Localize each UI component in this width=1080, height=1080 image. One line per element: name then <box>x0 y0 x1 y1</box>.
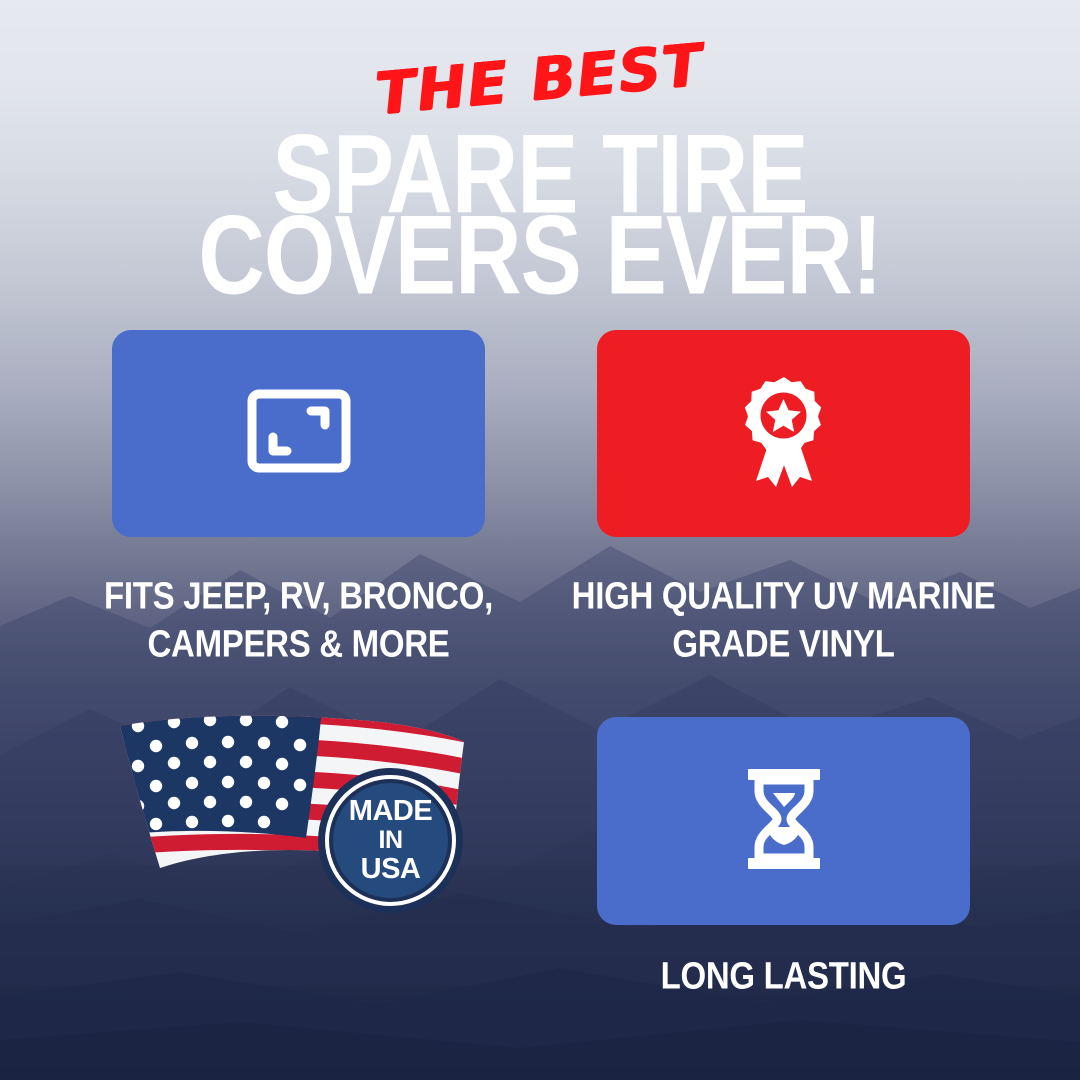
badge-text-usa: USA <box>361 855 421 884</box>
feature-caption-quality: HIGH QUALITY UV MARINE GRADE VINYL <box>560 572 1007 667</box>
feature-tile-quality <box>597 330 970 537</box>
feature-tile-fits <box>112 330 485 537</box>
headline-line-2: COVERS EVER! <box>0 203 1080 310</box>
resize-fit-icon <box>247 389 351 478</box>
feature-caption-fits: FITS JEEP, RV, BRONCO, CAMPERS & MORE <box>62 572 535 667</box>
hourglass-icon <box>744 767 824 876</box>
poster-canvas: THE BEST SPARE TIRE COVERS EVER! FITS JE… <box>0 0 1080 1080</box>
badge-text-in: IN <box>379 828 403 853</box>
feature-tile-long-lasting <box>597 717 970 925</box>
badge-disc: MADE IN USA <box>333 783 448 898</box>
award-ribbon-icon <box>740 375 828 492</box>
feature-caption-long-lasting: LONG LASTING <box>600 952 967 999</box>
badge-text-made: MADE <box>349 797 432 826</box>
made-in-usa-badge: MADE IN USA <box>318 768 463 913</box>
